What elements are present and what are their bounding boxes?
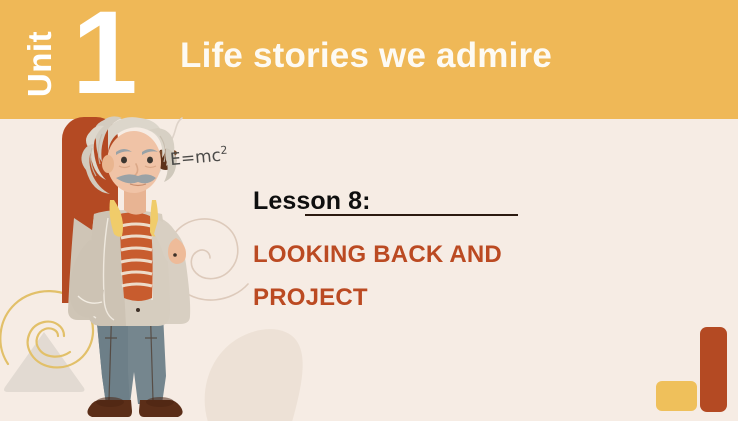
corner-bar-yellow xyxy=(656,381,697,411)
lesson-label: Lesson 8: xyxy=(253,186,553,216)
slide-canvas: Unit 1 Life stories we admire xyxy=(0,0,738,421)
corner-bar-red xyxy=(700,327,727,412)
unit-number: 1 xyxy=(72,0,135,112)
formula-exponent: 2 xyxy=(220,144,228,158)
lesson-title: LOOKING BACK AND PROJECT xyxy=(253,233,528,319)
lesson-underline-rule xyxy=(305,214,518,216)
header-band: Unit 1 Life stories we admire xyxy=(0,0,738,119)
lesson-block: Lesson 8: LOOKING BACK AND PROJECT xyxy=(253,186,553,319)
page-title: Life stories we admire xyxy=(180,36,552,76)
